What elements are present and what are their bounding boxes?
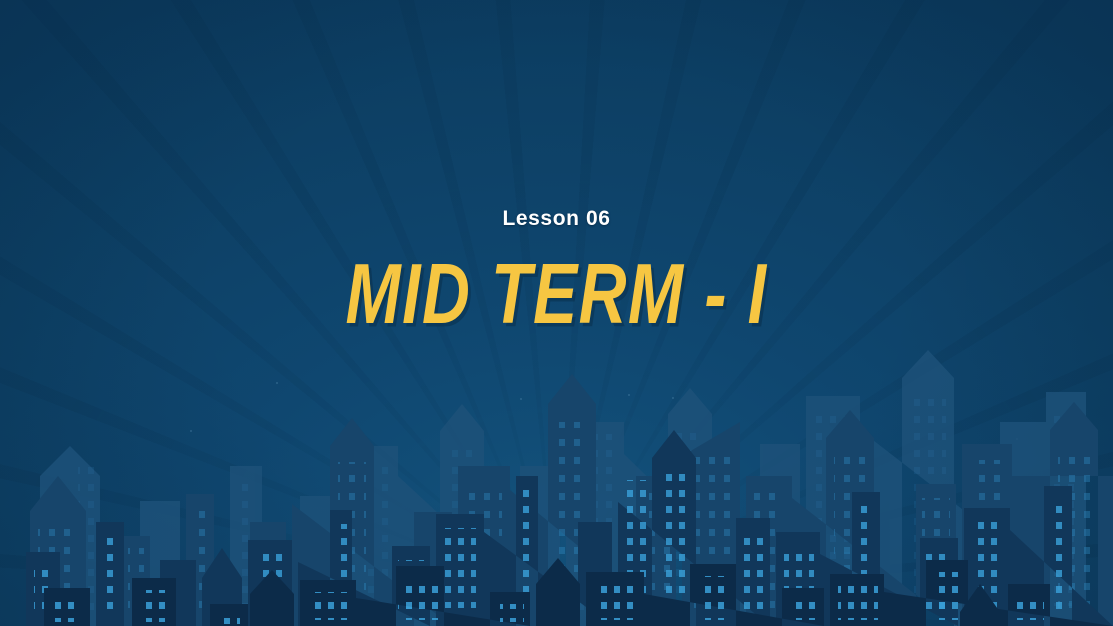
title-block: Lesson 06 MID TERM - I: [0, 208, 1113, 320]
cityscape: [0, 326, 1113, 626]
page-title: MID TERM - I: [22, 251, 1090, 337]
slide-canvas: Lesson 06 MID TERM - I: [0, 0, 1113, 626]
lesson-label: Lesson 06: [0, 208, 1113, 229]
